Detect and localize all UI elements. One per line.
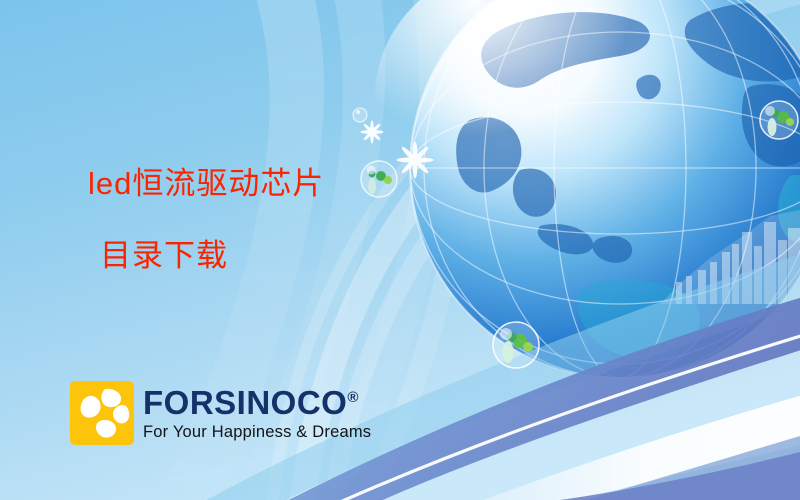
logo-wordmark-text: FORSINOCO [143,384,347,421]
bubble-pinwheel-right [760,101,798,139]
forsinoco-pinwheel-mark [70,381,134,445]
pinwheel-petals-icon [70,381,134,445]
flower-sparkle-large [397,142,434,179]
registered-trademark-icon: ® [347,389,358,406]
logo-wordmark-block: FORSINOCO® For Your Happiness & Dreams [143,381,371,442]
headline-text: led恒流驱动芯片 目录下载 [88,163,324,277]
headline-line-1: led恒流驱动芯片 [88,166,324,201]
bubble-pinwheel-left [361,161,397,197]
promo-banner: led恒流驱动芯片 目录下载 FORSINOCO® For Your Happi… [0,0,800,500]
headline-line-2: 目录下载 [88,235,324,277]
flower-sparkle-small [361,121,384,144]
bubble-pinwheel-small [353,108,367,122]
company-logo[interactable]: FORSINOCO® For Your Happiness & Dreams [70,381,371,445]
logo-tagline: For Your Happiness & Dreams [143,422,371,442]
bubble-pinwheel-center [493,322,539,368]
logo-wordmark: FORSINOCO® [143,381,371,420]
